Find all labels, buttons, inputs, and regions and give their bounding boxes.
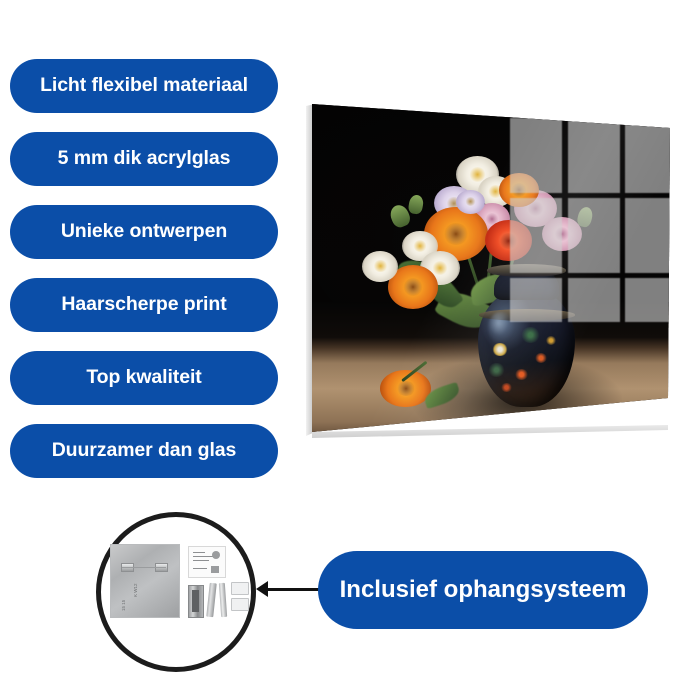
mounting-plate-text: K W12 [133,583,138,597]
vase-decoration-flower [492,343,508,357]
leaf [434,284,496,336]
vase-body [478,288,575,407]
wall-plug [188,585,204,618]
panel-bottom-edge [306,425,672,441]
feature-pill-list: Licht flexibel materiaal 5 mm dik acrylg… [10,59,278,497]
leaf [518,308,570,355]
vase-highlight [488,312,513,343]
instruction-card-line [193,552,205,553]
flower-bud [576,205,595,228]
feature-pill-label: Unieke ontwerpen [61,222,227,242]
flower-orange [388,265,438,309]
callout-connector-line [262,588,320,591]
flower-stem [486,241,495,295]
vase-neck [494,270,559,301]
artwork-table-surface [312,302,672,438]
feature-pill-1[interactable]: Licht flexibel materiaal [10,59,278,113]
flower-bud [408,194,425,215]
instruction-card-line [193,568,207,569]
window-reflection-overlay [312,98,672,438]
flower-red [485,220,532,261]
vase-decoration-leaf [488,363,505,377]
feature-pill-4[interactable]: Haarscherpe print [10,278,278,332]
leaf [396,256,440,288]
reflection-pane [510,278,562,322]
feature-pill-5[interactable]: Top kwaliteit [10,351,278,405]
flower-white [456,156,499,193]
feature-pill-3[interactable]: Unieke ontwerpen [10,205,278,259]
product-infographic: Licht flexibel materiaal 5 mm dik acrylg… [0,0,700,700]
feature-pill-2[interactable]: 5 mm dik acrylglas [10,132,278,186]
leaf [468,270,519,306]
feature-pill-label: Top kwaliteit [86,368,201,388]
vase-decoration-flower [535,353,547,363]
reflection-pane [625,198,672,273]
flower-pink [514,190,557,227]
vase-decoration-flower [515,369,528,380]
flower-stem [401,361,427,382]
flower-white [362,251,398,282]
vase-decoration-leaf [521,327,540,343]
spacer-pad [231,582,249,595]
flower-stem [464,245,481,288]
screw [219,583,227,617]
flower-pink [474,203,510,234]
instruction-card [188,546,226,578]
feature-pill-6[interactable]: Duurzamer dan glas [10,424,278,478]
vase-rim [487,264,566,276]
spacer-pad [231,598,249,611]
reflection-pane [625,278,672,322]
reflection-sheen [312,98,672,438]
flower-white [478,176,514,207]
reflection-pane [568,118,620,193]
reflection-pane [568,278,620,322]
screw [206,583,217,618]
flower-bud [388,203,413,230]
vase-decoration-flower [546,336,556,345]
flower-pink [542,217,582,251]
instruction-card-line [193,560,209,561]
flower-fallen-orange [380,370,430,407]
feature-pill-label: Licht flexibel materiaal [40,76,248,96]
reflection-pane [510,198,562,273]
feature-pill-label: 5 mm dik acrylglas [58,149,231,169]
callout-badge-mounting-system[interactable]: Inclusief ophangsysteem [318,551,648,629]
flower-lavender [456,190,485,214]
artwork-vase-shadow [413,356,622,431]
flower-orange-large [424,207,489,261]
reflection-pane [510,118,562,193]
leaf [500,277,557,328]
panel-left-edge [306,100,315,436]
instruction-card-icon [211,566,219,573]
leaf [419,266,464,315]
flower-white [420,251,460,285]
flower-white [402,231,438,262]
flower-orange [499,173,539,207]
vase-decoration-flower [501,383,512,392]
instruction-card-icon [212,551,220,559]
mounting-plate-text: 15 15 [121,600,126,611]
instruction-card-line [193,556,213,557]
mounting-plate: K W12 15 15 [110,544,180,618]
flower-lavender [434,186,474,220]
leaf [422,382,461,409]
callout-label: Inclusief ophangsysteem [340,576,627,604]
mounting-plate-line [122,567,166,568]
vase-band [479,309,574,321]
reflection-pane [625,118,672,193]
mounting-hardware-parts: K W12 15 15 [110,538,245,643]
artwork-still-life [312,98,672,438]
flower-stem [504,245,518,285]
reflection-pane [568,198,620,273]
feature-pill-label: Duurzamer dan glas [52,441,237,461]
feature-pill-label: Haarscherpe print [61,295,226,315]
